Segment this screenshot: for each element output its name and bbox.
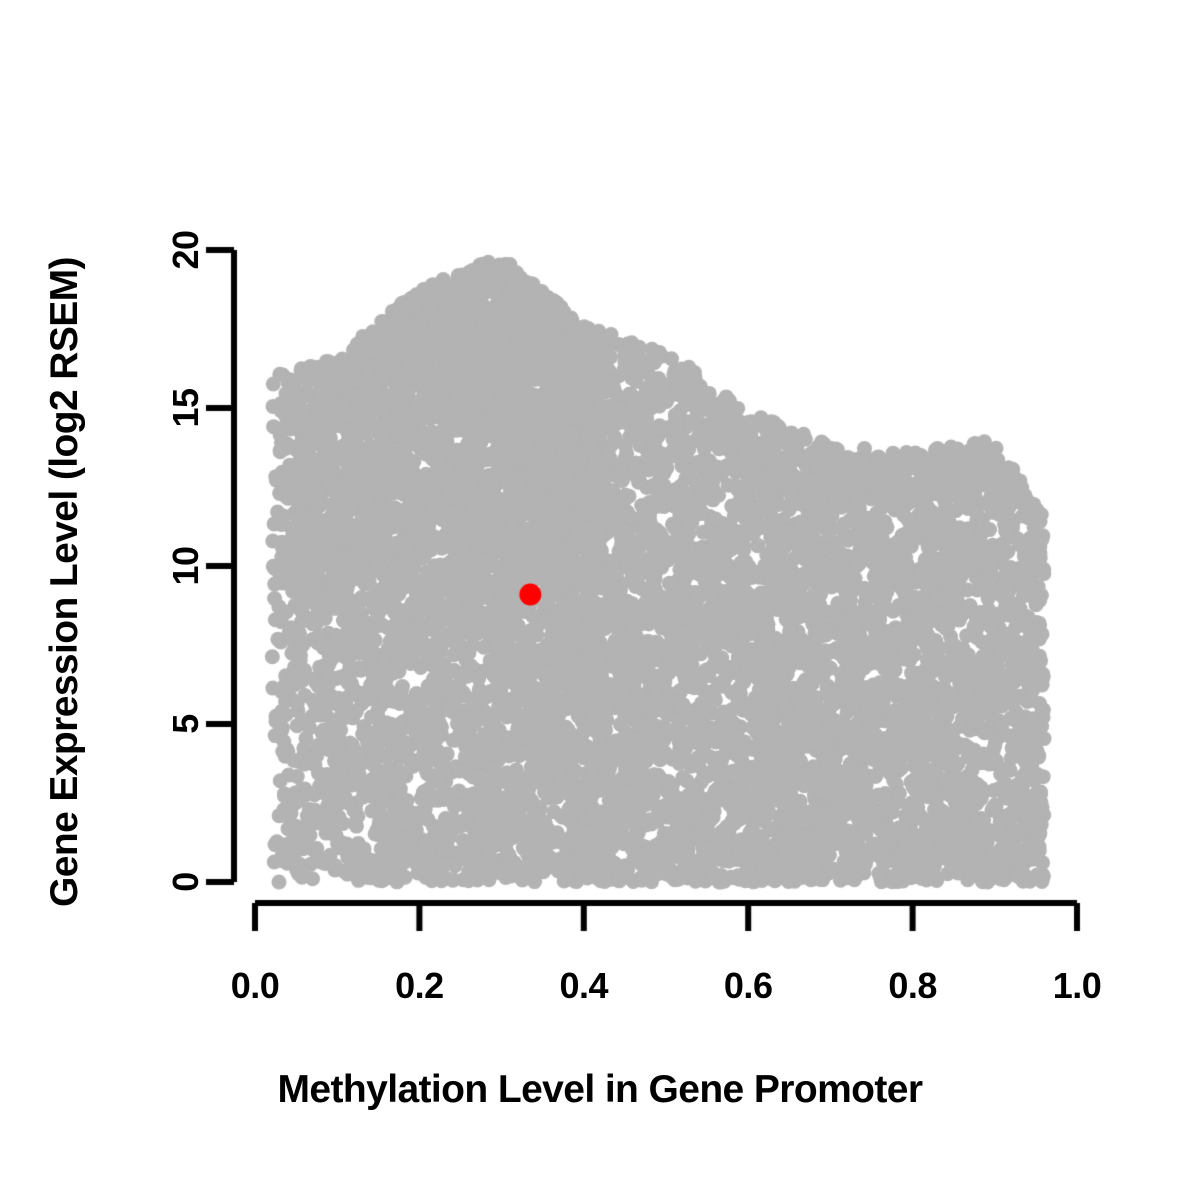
y-tick-label: 0	[165, 872, 207, 892]
y-tick-label: 5	[165, 714, 207, 734]
y-tick-label: 10	[165, 546, 207, 585]
legend-label-hla-dqa1: HLA-DQA1	[655, 120, 858, 160]
x-tick-label: 0.4	[560, 965, 609, 1007]
plot-area	[0, 0, 1200, 1200]
x-axis-title: Methylation Level in Gene Promoter	[0, 1068, 1200, 1112]
x-tick-label: 0.8	[888, 965, 937, 1007]
y-axis-title: Gene Expression Level (log2 RSEM)	[43, 152, 87, 1012]
x-tick-label: 1.0	[1053, 965, 1102, 1007]
chart-legend: All genes HLA-DQA1	[0, 105, 1200, 175]
legend-marker-hla-dqa1-icon	[614, 130, 635, 151]
x-tick-label: 0.2	[395, 965, 444, 1007]
x-tick-label: 0.6	[724, 965, 773, 1007]
legend-label-all-genes: All genes	[381, 120, 554, 160]
y-tick-label: 15	[165, 388, 207, 427]
x-tick-label: 0.0	[231, 965, 280, 1007]
legend-marker-all-genes-icon	[342, 131, 361, 150]
legend-entry-hla-dqa1: HLA-DQA1	[614, 120, 858, 160]
legend-entry-all-genes: All genes	[342, 120, 554, 160]
y-tick-label: 20	[165, 230, 207, 269]
scatter-plot-figure: All genes HLA-DQA1 Gene Expression Level…	[0, 0, 1200, 1200]
